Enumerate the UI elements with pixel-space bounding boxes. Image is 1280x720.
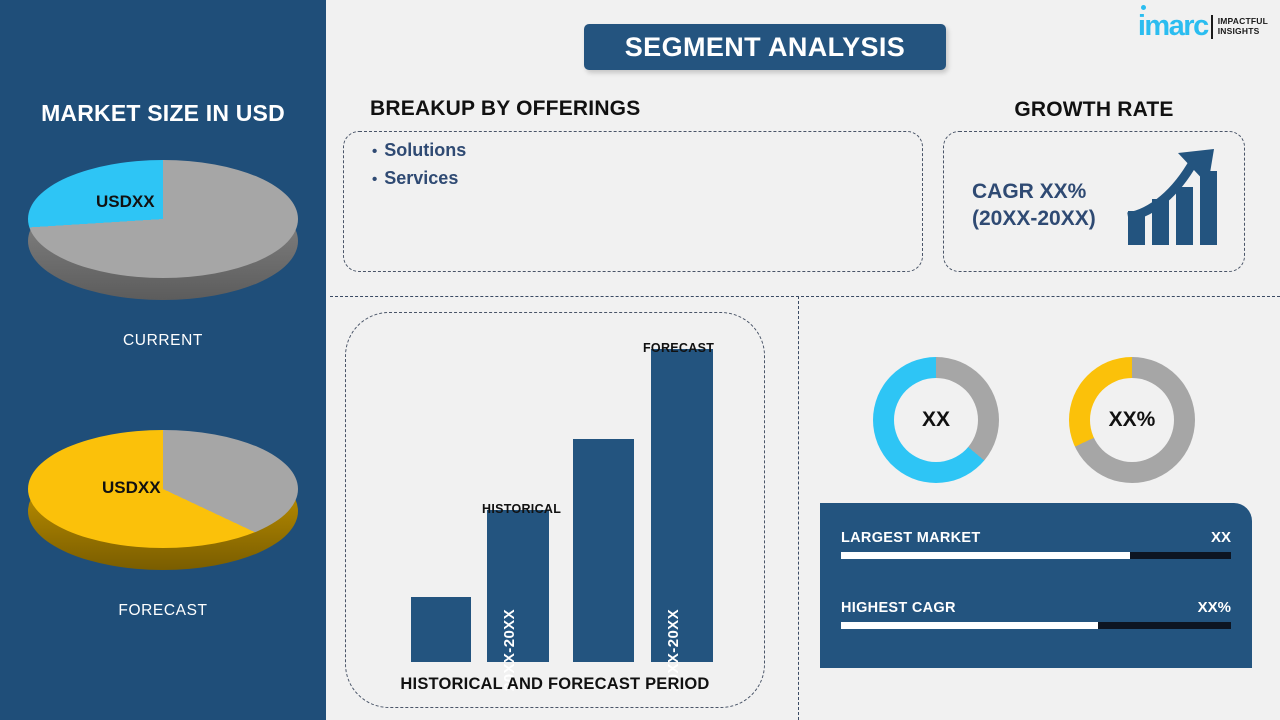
logo-wordmark: imarc (1138, 12, 1208, 41)
page-title: SEGMENT ANALYSIS (625, 32, 905, 63)
logo-tagline-line2: INSIGHTS (1218, 27, 1268, 36)
cagr-line-2: (20XX-20XX) (972, 206, 1096, 233)
donut-chart-value: XX (873, 357, 999, 483)
vertical-divider (798, 296, 799, 720)
stat-value: XX (1211, 529, 1231, 546)
stat-value: XX% (1198, 599, 1231, 616)
bar-1 (411, 597, 471, 662)
current-market-size-block: USDXX CURRENT (0, 160, 326, 350)
stat-header: HIGHEST CAGR XX% (841, 599, 1231, 616)
stat-label: LARGEST MARKET (841, 530, 981, 546)
current-pie-value-label: USDXX (96, 192, 155, 212)
progress-fill (841, 552, 1130, 559)
historical-forecast-bar-chart: 20XX-20XX HISTORICAL 20XX-20XX FORECAST … (345, 312, 765, 708)
logo-dot-icon (1141, 5, 1146, 10)
progress-fill (841, 622, 1098, 629)
infographic-page: MARKET SIZE IN USD USDXX CURRENT USDXX F… (0, 0, 1280, 720)
donut-hole: XX% (1090, 378, 1174, 462)
forecast-market-size-block: USDXX FORECAST (0, 430, 326, 620)
stat-row-largest-market: LARGEST MARKET XX (841, 529, 1231, 559)
forecast-pie-caption: FORECAST (0, 602, 326, 620)
donut-hole: XX (894, 378, 978, 462)
donut-2-center-label: XX% (1109, 408, 1156, 432)
stat-header: LARGEST MARKET XX (841, 529, 1231, 546)
horizontal-divider (330, 296, 1280, 297)
progress-track (841, 622, 1231, 629)
offerings-heading: BREAKUP BY OFFERINGS (370, 97, 640, 121)
bullet-icon: • (372, 143, 377, 160)
donut-chart-percent: XX% (1069, 357, 1195, 483)
imarc-logo: imarc IMPACTFUL INSIGHTS (1138, 12, 1268, 41)
period-chart-axis-label: HISTORICAL AND FORECAST PERIOD (345, 675, 765, 694)
page-title-banner: SEGMENT ANALYSIS (584, 24, 946, 70)
stat-row-highest-cagr: HIGHEST CAGR XX% (841, 599, 1231, 629)
logo-tagline: IMPACTFUL INSIGHTS (1218, 17, 1268, 36)
offering-label: Services (384, 168, 458, 189)
bar-3 (573, 439, 634, 662)
sidebar-title: MARKET SIZE IN USD (0, 100, 326, 127)
stat-label: HIGHEST CAGR (841, 600, 956, 616)
current-pie-chart: USDXX (28, 160, 298, 310)
cagr-line-1: CAGR XX% (972, 179, 1096, 206)
forecast-pie-chart: USDXX (28, 430, 298, 580)
bar-2: 20XX-20XX (487, 510, 549, 662)
list-item: • Services (372, 168, 466, 189)
donut-1-center-label: XX (922, 408, 950, 432)
offerings-list: • Solutions • Services (372, 140, 466, 196)
list-item: • Solutions (372, 140, 466, 161)
forecast-annotation: FORECAST (643, 341, 714, 355)
market-stats-panel: LARGEST MARKET XX HIGHEST CAGR XX% (820, 503, 1252, 668)
bar-4: 20XX-20XX (651, 349, 713, 662)
market-size-sidebar: MARKET SIZE IN USD USDXX CURRENT USDXX F… (0, 0, 326, 720)
offering-label: Solutions (384, 140, 466, 161)
forecast-pie-value-label: USDXX (102, 478, 161, 498)
bullet-icon: • (372, 171, 377, 188)
growth-rate-heading: GROWTH RATE (943, 98, 1245, 122)
pie-3d-top (28, 430, 298, 548)
logo-divider (1211, 15, 1213, 39)
growth-arrow-bar-icon (1126, 145, 1226, 250)
cagr-text: CAGR XX% (20XX-20XX) (972, 179, 1096, 233)
current-pie-caption: CURRENT (0, 332, 326, 350)
historical-annotation: HISTORICAL (482, 502, 561, 516)
progress-track (841, 552, 1231, 559)
pie-3d-top (28, 160, 298, 278)
